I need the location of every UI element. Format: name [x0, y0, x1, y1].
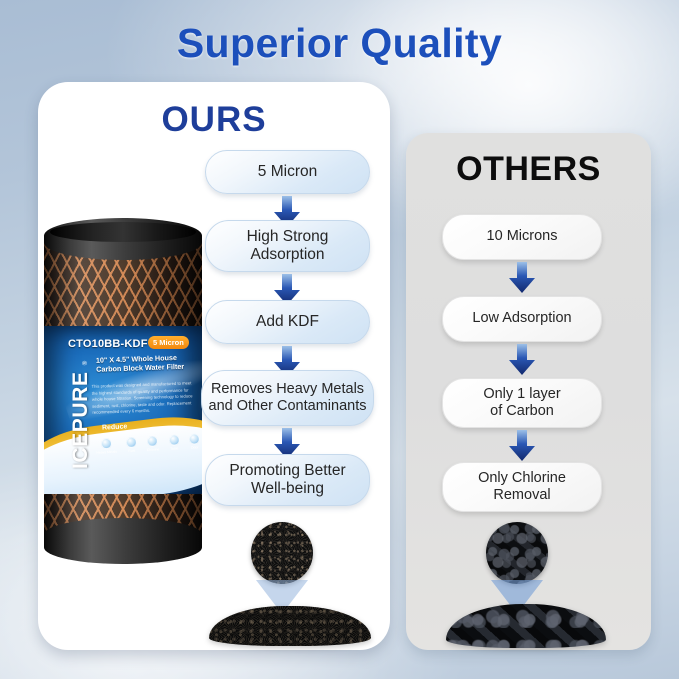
ours-step-4[interactable]: Removes Heavy Metals and Other Contamina…	[201, 370, 374, 426]
ours-step-2[interactable]: High Strong Adsorption	[205, 220, 370, 272]
cartridge-label: CTO10BB-KDF 5 Micron 10" X 4.5" Whole Ho…	[44, 326, 202, 494]
label-fineprint: This product was designed and manufactur…	[91, 380, 196, 416]
ours-step-1-label: 5 Micron	[258, 163, 317, 181]
page-title: Superior Quality	[0, 20, 679, 67]
ours-step-3[interactable]: Add KDF	[205, 300, 370, 344]
others-carbon-pile	[446, 604, 606, 648]
others-arrow-3	[506, 430, 538, 462]
others-arrow-1	[506, 262, 538, 294]
others-step-4-label: Only Chlorine Removal	[478, 470, 566, 504]
ours-carbon-illustration	[195, 518, 385, 648]
ours-step-3-label: Add KDF	[256, 313, 319, 331]
ours-step-2-label: High Strong Adsorption	[247, 228, 329, 265]
ours-step-5[interactable]: Promoting Better Well-being	[205, 454, 370, 506]
label-micron-badge: 5 Micron	[148, 336, 189, 349]
others-step-3-label: Only 1 layer of Carbon	[483, 386, 560, 420]
label-reduce-heading: Reduce	[102, 423, 128, 431]
label-registered-mark: ®	[83, 361, 89, 365]
others-heading: OTHERS	[406, 150, 651, 189]
ours-step-1[interactable]: 5 Micron	[205, 150, 370, 194]
ours-carbon-magnifier	[251, 522, 313, 584]
heavy-metals-icon: Heavy Metals	[96, 438, 117, 455]
others-step-2[interactable]: Low Adsorption	[442, 296, 602, 342]
label-brand-name: ICEPURE	[69, 339, 93, 469]
cartridge-bottom-cap	[44, 518, 202, 564]
others-arrow-2	[506, 344, 538, 376]
ours-heading: OURS	[38, 100, 390, 140]
others-step-2-label: Low Adsorption	[472, 310, 571, 327]
product-filter-cartridge: CTO10BB-KDF 5 Micron 10" X 4.5" Whole Ho…	[44, 218, 202, 566]
others-carbon-illustration	[430, 518, 620, 648]
chlorine-icon: Chlorine	[146, 435, 159, 452]
infographic-canvas: Superior Quality OURS OTHERS CTO10BB-KDF…	[0, 0, 679, 679]
ours-carbon-pile	[209, 606, 371, 646]
odor-icon: Odor	[189, 433, 201, 450]
ours-step-4-label: Removes Heavy Metals and Other Contamina…	[209, 381, 367, 415]
rust-icon: Rust	[126, 437, 138, 454]
taste-icon: Taste	[168, 434, 180, 451]
others-step-3[interactable]: Only 1 layer of Carbon	[442, 378, 602, 428]
label-description: 10" X 4.5" Whole House Carbon Block Wate…	[96, 352, 201, 374]
others-step-4[interactable]: Only Chlorine Removal	[442, 462, 602, 512]
ours-step-5-label: Promoting Better Well-being	[229, 462, 345, 499]
others-carbon-magnifier	[486, 522, 548, 584]
others-step-1-label: 10 Microns	[487, 228, 558, 245]
cartridge-top-cap	[44, 218, 202, 260]
others-step-1[interactable]: 10 Microns	[442, 214, 602, 260]
